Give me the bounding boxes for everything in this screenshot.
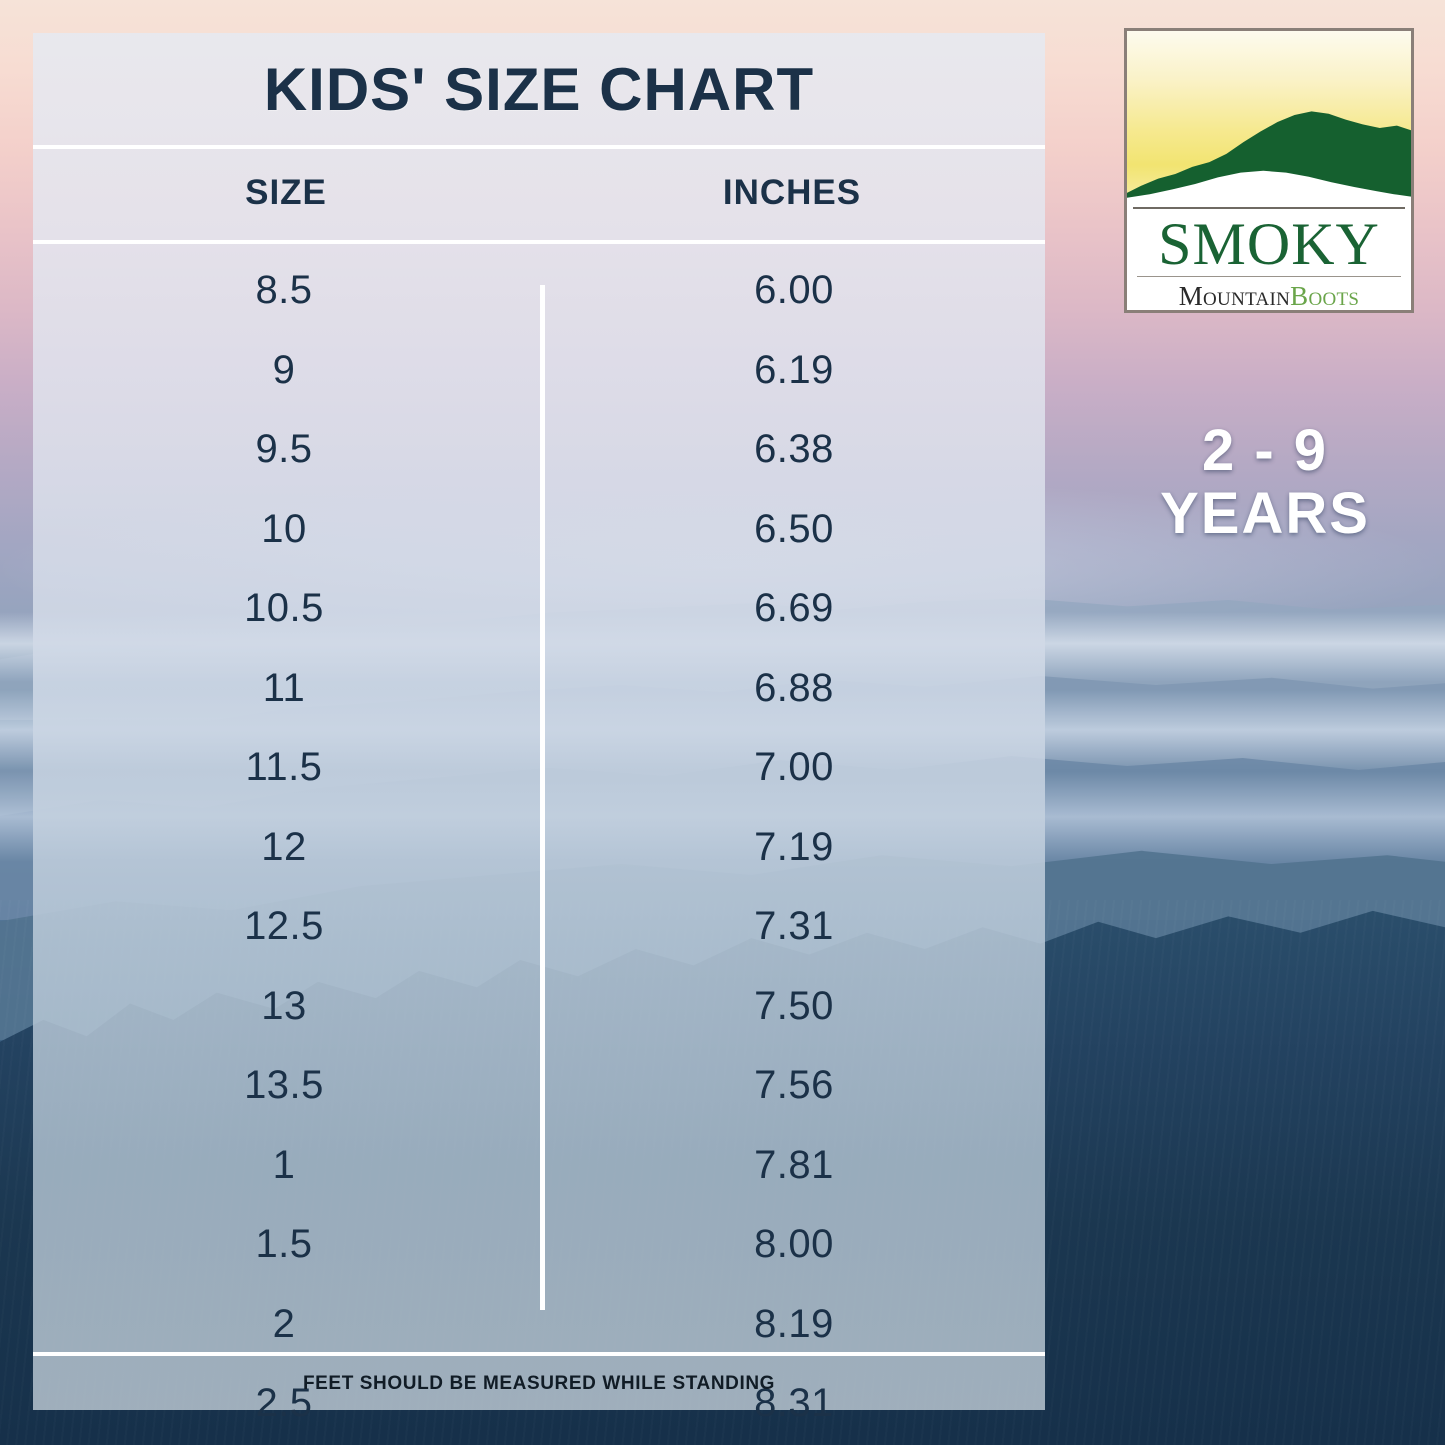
table-row: 13 7.50 [33,967,1045,1047]
brand-logo: SMOKY MountainBoots [1124,28,1414,313]
cell-inches: 7.50 [541,984,1047,1029]
table-row: 12.5 7.31 [33,887,1045,967]
logo-brand-secondary: MountainBoots [1127,283,1411,310]
size-chart-panel: KIDS' SIZE CHART SIZE INCHES 8.5 6.00 9 … [33,33,1045,1410]
cell-size: 12 [31,825,537,870]
cell-inches: 6.88 [541,666,1047,711]
age-range-value: 2 - 9 [1100,420,1430,483]
table-row: 12 7.19 [33,808,1045,888]
table-row: 1.5 8.00 [33,1205,1045,1285]
cell-inches: 7.81 [541,1143,1047,1188]
column-header-inches: INCHES [539,173,1045,213]
cell-size: 8.5 [31,268,537,313]
cell-inches: 8.00 [541,1222,1047,1267]
cell-inches: 6.69 [541,586,1047,631]
table-header-row: SIZE INCHES [33,173,1045,213]
cell-size: 11.5 [31,745,537,790]
cell-size: 10 [31,507,537,552]
measurement-note: FEET SHOULD BE MEASURED WHILE STANDING [33,1373,1045,1395]
cell-inches: 7.56 [541,1063,1047,1108]
cell-inches: 6.19 [541,348,1047,393]
cell-size: 1 [31,1143,537,1188]
cell-inches: 7.31 [541,904,1047,949]
cell-size: 10.5 [31,586,537,631]
table-row: 9 6.19 [33,331,1045,411]
table-row: 11 6.88 [33,649,1045,729]
table-row: 10.5 6.69 [33,569,1045,649]
table-row: 8.5 6.00 [33,251,1045,331]
age-range-unit: YEARS [1100,483,1430,546]
cell-size: 12.5 [31,904,537,949]
cell-size: 2 [31,1302,537,1347]
cell-inches: 7.00 [541,745,1047,790]
cell-inches: 6.38 [541,427,1047,472]
table-row: 9.5 6.38 [33,410,1045,490]
divider-above-footnote [33,1352,1045,1356]
cell-inches: 6.50 [541,507,1047,552]
cell-size: 9.5 [31,427,537,472]
table-body: 8.5 6.00 9 6.19 9.5 6.38 10 6.50 10.5 6.… [33,251,1045,1445]
age-range-badge: 2 - 9 YEARS [1100,420,1430,545]
cell-size: 13.5 [31,1063,537,1108]
cell-inches: 7.19 [541,825,1047,870]
logo-brand-primary: SMOKY [1127,214,1411,274]
cell-size: 11 [31,666,537,711]
table-row: 13.5 7.56 [33,1046,1045,1126]
cell-size: 1.5 [31,1222,537,1267]
logo-rule-bottom [1137,276,1401,277]
cell-size: 13 [31,984,537,1029]
column-header-size: SIZE [33,173,539,213]
page-title: KIDS' SIZE CHART [33,55,1045,124]
cell-size: 9 [31,348,537,393]
divider-under-header [33,240,1045,244]
logo-word-mountain: Mountain [1179,281,1290,311]
table-row: 1 7.81 [33,1126,1045,1206]
size-chart-graphic: KIDS' SIZE CHART SIZE INCHES 8.5 6.00 9 … [0,0,1445,1445]
logo-word-boots: Boots [1290,281,1359,311]
cell-inches: 8.19 [541,1302,1047,1347]
cell-inches: 6.00 [541,268,1047,313]
logo-rule-top [1133,207,1405,209]
divider-under-title [33,145,1045,149]
table-row: 10 6.50 [33,490,1045,570]
table-row: 11.5 7.00 [33,728,1045,808]
